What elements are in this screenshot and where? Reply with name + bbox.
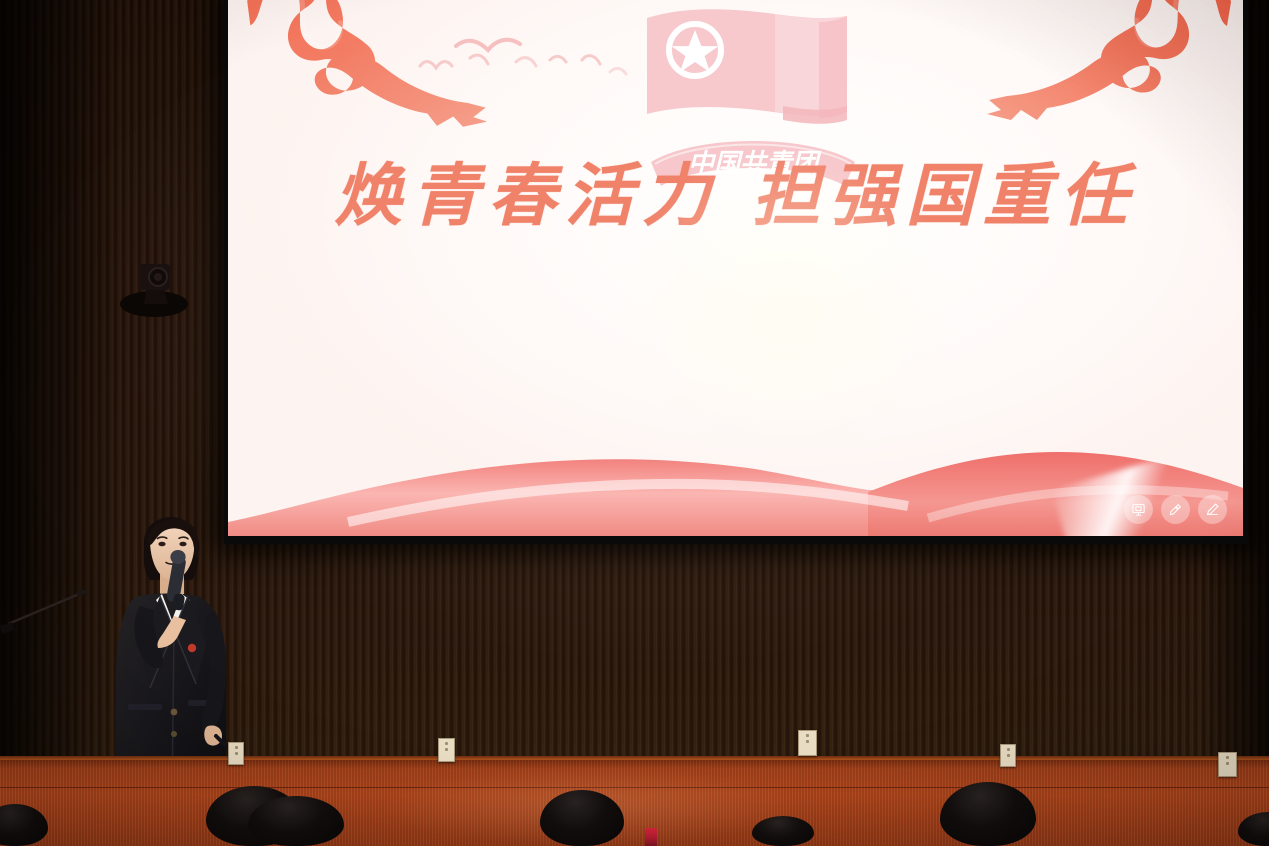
slide-title: 焕青春活力 担强国重任 — [228, 140, 1243, 239]
microphone-stand — [0, 590, 86, 634]
wall-socket — [438, 738, 455, 762]
present-screen-icon[interactable] — [1124, 495, 1153, 524]
emblem-flag — [647, 9, 847, 124]
pen-annotate-icon[interactable] — [1198, 495, 1227, 524]
wall-socket — [798, 730, 817, 756]
lapel-badge — [188, 644, 196, 652]
stage-presentation-photo: 中国共青团 焕青春活力 担强国重任 — [0, 0, 1269, 846]
slide-toolbar[interactable] — [1124, 495, 1227, 524]
wall-socket — [1000, 744, 1016, 767]
stage-apron — [0, 760, 1269, 846]
hills-decoration — [228, 426, 1243, 536]
wall-socket — [1218, 752, 1237, 777]
wall-socket — [228, 742, 244, 765]
wall-left-shadow — [0, 0, 120, 790]
projection-screen: 中国共青团 焕青春活力 担强国重任 — [228, 0, 1243, 536]
wall-camera — [112, 252, 192, 330]
apron-seam — [0, 787, 1269, 788]
laser-pointer-icon[interactable] — [1161, 495, 1190, 524]
birds-decoration — [396, 22, 646, 112]
apron-light-reflection — [380, 766, 800, 846]
